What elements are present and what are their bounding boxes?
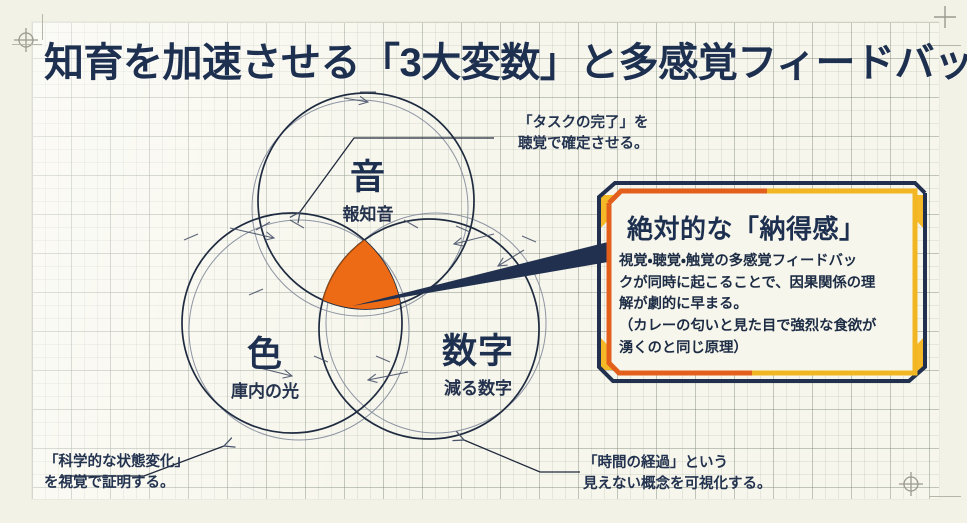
annotation-bottom-left-line1: 「科学的な状態変化」 [44,452,189,473]
venn-label-iro-sub: 庫内の光 [205,377,325,402]
registration-plus-top-right [932,4,958,30]
annotation-bottom-right-line2: 見えない概念を可視化する。 [583,474,772,495]
callout-pointer-wedge [350,240,620,350]
callout-body-line-1: 視覚・聴覚・触覚の多感覚フィードバッ [619,251,911,273]
crop-mark-rule-bottom-right [929,496,961,497]
annotation-top: 「タスクの完了」を 聴覚で確定させる。 [518,113,649,155]
annotation-top-line2: 聴覚で確定させる。 [518,134,649,155]
slide-canvas: 知育を加速させる「3大変数」と多感覚フィードバック [0,0,967,523]
annotation-bottom-left-line2: を視覚で証明する。 [44,473,189,494]
venn-label-suji-sub: 減る数字 [418,374,538,399]
callout-heading: 絶対的な「納得感」 [627,209,866,246]
annotation-top-line1: 「タスクの完了」を [518,113,649,134]
callout-body-line-5: 湧くのと同じ原理） [619,338,911,360]
callout-body: 視覚・聴覚・触覚の多感覚フィードバッ クが同時に起こることで、因果関係の理 解が… [619,251,911,360]
venn-label-oto-sub: 報知音 [313,200,423,225]
callout-body-line-2: クが同時に起こることで、因果関係の理 [619,273,911,295]
callout-body-line-3: 解が劇的に早まる。 [619,294,911,316]
registration-crosshair-bottom-right [897,470,925,498]
callout-body-line-4: （カレーの匂いと見た目で強烈な食欲が [619,316,911,338]
registration-crosshair-top-left [12,26,40,54]
venn-label-iro-title: 色 [205,337,325,374]
annotation-bottom-left: 「科学的な状態変化」 を視覚で証明する。 [44,452,189,494]
venn-label-oto: 音 報知音 [313,160,423,225]
venn-label-oto-title: 音 [313,160,423,197]
crop-mark-rule-left [12,44,42,45]
venn-label-iro: 色 庫内の光 [205,337,325,402]
annotation-bottom-right-line1: 「時間の経過」という [583,453,772,474]
callout-box: 絶対的な「納得感」 視覚・聴覚・触覚の多感覚フィードバッ クが同時に起こることで… [597,181,927,384]
crop-mark-tick-top [42,14,43,40]
annotation-bottom-right: 「時間の経過」という 見えない概念を可視化する。 [583,453,772,495]
